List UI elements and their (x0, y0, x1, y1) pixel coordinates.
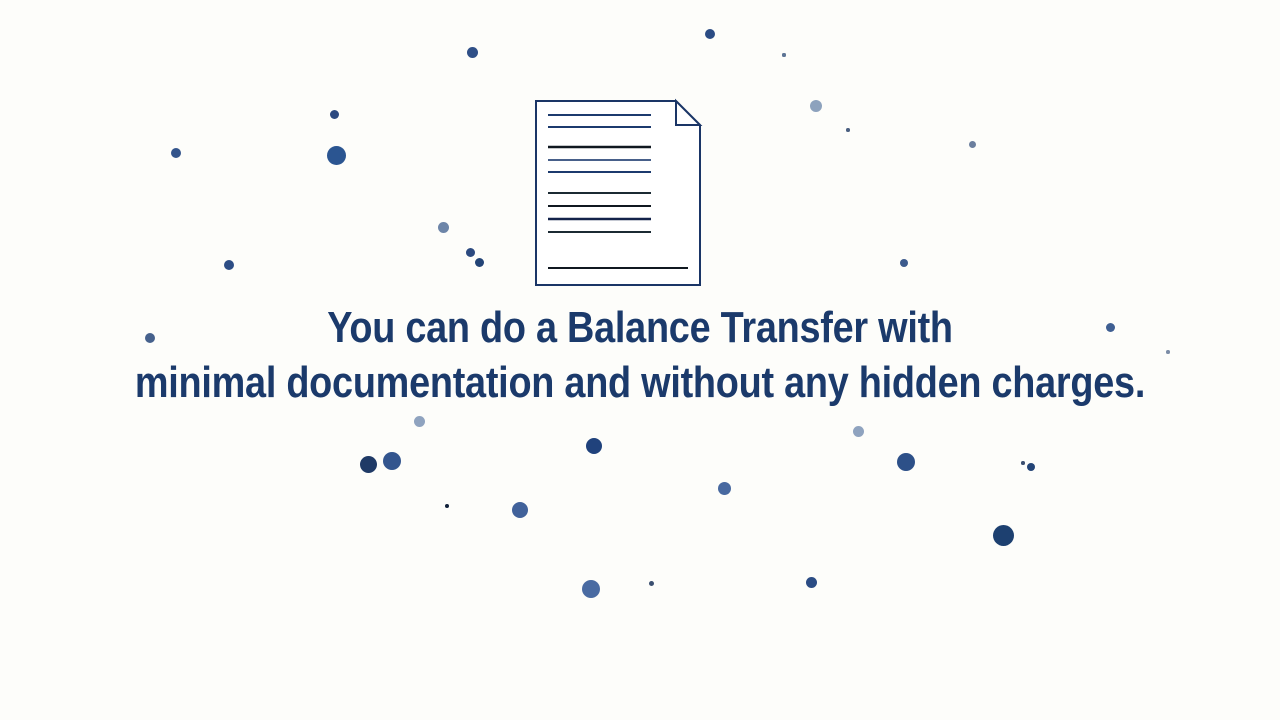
decorative-dot (586, 438, 602, 454)
decorative-dot (1027, 463, 1035, 471)
decorative-dot (438, 222, 449, 233)
document-fold-corner-icon (676, 101, 700, 125)
decorative-dot (969, 141, 976, 148)
decorative-dot (705, 29, 715, 39)
decorative-dot (360, 456, 377, 473)
decorative-dot (171, 148, 181, 158)
decorative-dot (810, 100, 822, 112)
decorative-dot (330, 110, 339, 119)
decorative-dot (846, 128, 850, 132)
decorative-dot (897, 453, 915, 471)
decorative-dot (1021, 461, 1025, 465)
document-page-icon (535, 100, 701, 286)
decorative-dot (224, 260, 234, 270)
decorative-dot (414, 416, 425, 427)
headline-line-2: minimal documentation and without any hi… (90, 355, 1191, 410)
headline-line-1: You can do a Balance Transfer with (90, 300, 1191, 355)
slide-canvas: You can do a Balance Transfer with minim… (0, 0, 1280, 720)
decorative-dot (853, 426, 864, 437)
decorative-dot (445, 504, 449, 508)
decorative-dot (475, 258, 484, 267)
decorative-dot (467, 47, 478, 58)
headline-text: You can do a Balance Transfer with minim… (90, 300, 1191, 410)
decorative-dot (649, 581, 654, 586)
decorative-dot (327, 146, 346, 165)
decorative-dot (512, 502, 528, 518)
decorative-dot (718, 482, 731, 495)
decorative-dot (582, 580, 600, 598)
decorative-dot (993, 525, 1014, 546)
decorative-dot (900, 259, 908, 267)
decorative-dot (806, 577, 817, 588)
decorative-dot (383, 452, 401, 470)
decorative-dot (782, 53, 785, 56)
decorative-dot (466, 248, 475, 257)
